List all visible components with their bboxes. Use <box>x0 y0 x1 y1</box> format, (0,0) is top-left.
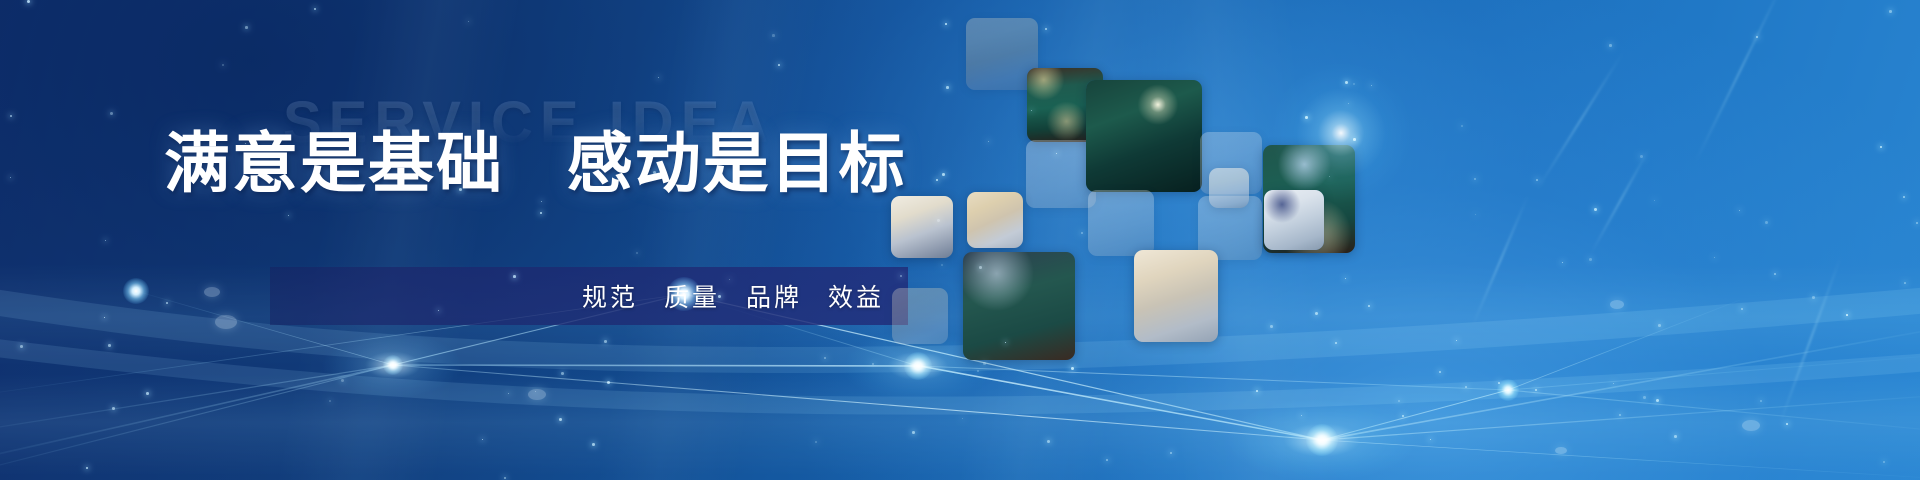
photo-doctor-exam-child <box>891 196 953 258</box>
photo-monitor-room <box>1088 190 1154 256</box>
photo-image <box>1086 80 1202 192</box>
service-idea-banner: SERVICE IDEA 满意是基础 感动是目标 规范质量品牌效益 <box>0 0 1920 480</box>
photo-image <box>1209 168 1249 208</box>
photo-surgery-main-large <box>1086 80 1202 192</box>
photo-image <box>892 288 948 344</box>
operating-light-glare <box>1266 58 1416 208</box>
photo-bed-patient-faint <box>892 288 948 344</box>
photo-image <box>1088 190 1154 256</box>
photo-surgery-masked-closeup <box>963 252 1075 360</box>
photo-ward-nurse-bedside <box>967 192 1023 248</box>
photo-consult-stethoscope <box>1134 250 1218 342</box>
photo-image <box>891 196 953 258</box>
photo-image <box>967 192 1023 248</box>
photo-doctor-white-coat <box>1209 168 1249 208</box>
photo-image <box>963 252 1075 360</box>
medical-photo-collage <box>0 0 1920 480</box>
photo-image <box>1134 250 1218 342</box>
